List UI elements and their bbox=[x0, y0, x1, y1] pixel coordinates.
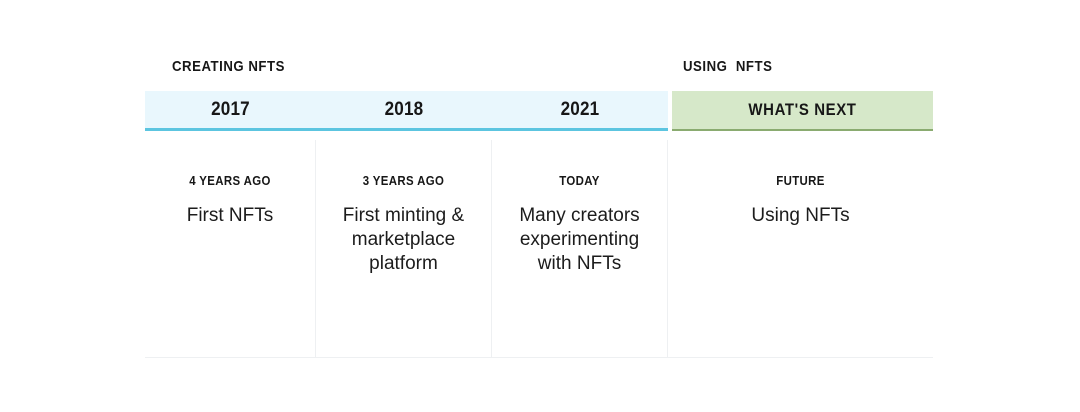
timeline-column-2021: TODAY Many creators experimenting with N… bbox=[492, 140, 668, 357]
column-body-2018: First minting & marketplace platform bbox=[316, 204, 491, 276]
section-label-creating-nfts: CREATING NFTS bbox=[172, 58, 285, 75]
timeline-column-future: FUTURE Using NFTs bbox=[668, 140, 933, 357]
creating-phase-header-band: 2017 2018 2021 bbox=[145, 91, 668, 131]
column-body-2017: First NFTs bbox=[145, 204, 315, 228]
timeline-column-2017: 4 YEARS AGO First NFTs bbox=[145, 140, 316, 357]
timeline-columns: 4 YEARS AGO First NFTs 3 YEARS AGO First… bbox=[145, 140, 933, 358]
column-body-2021: Many creators experimenting with NFTs bbox=[492, 204, 667, 276]
year-header-2021: 2021 bbox=[501, 99, 659, 121]
column-tag-future: FUTURE bbox=[684, 173, 917, 188]
year-header-2018: 2018 bbox=[325, 99, 483, 121]
whats-next-header: WHAT'S NEXT bbox=[688, 100, 918, 120]
column-tag-4-years-ago: 4 YEARS AGO bbox=[155, 173, 305, 188]
column-body-future: Using NFTs bbox=[668, 204, 933, 228]
column-tag-today: TODAY bbox=[503, 173, 657, 188]
timeline-column-2018: 3 YEARS AGO First minting & marketplace … bbox=[316, 140, 492, 357]
timeline-board: CREATING NFTS USING NFTS 2017 2018 2021 … bbox=[0, 0, 1080, 412]
section-label-using-nfts: USING NFTS bbox=[683, 58, 772, 75]
using-phase-header-band: WHAT'S NEXT bbox=[672, 91, 933, 131]
year-header-2017: 2017 bbox=[154, 99, 308, 121]
column-tag-3-years-ago: 3 YEARS AGO bbox=[327, 173, 481, 188]
